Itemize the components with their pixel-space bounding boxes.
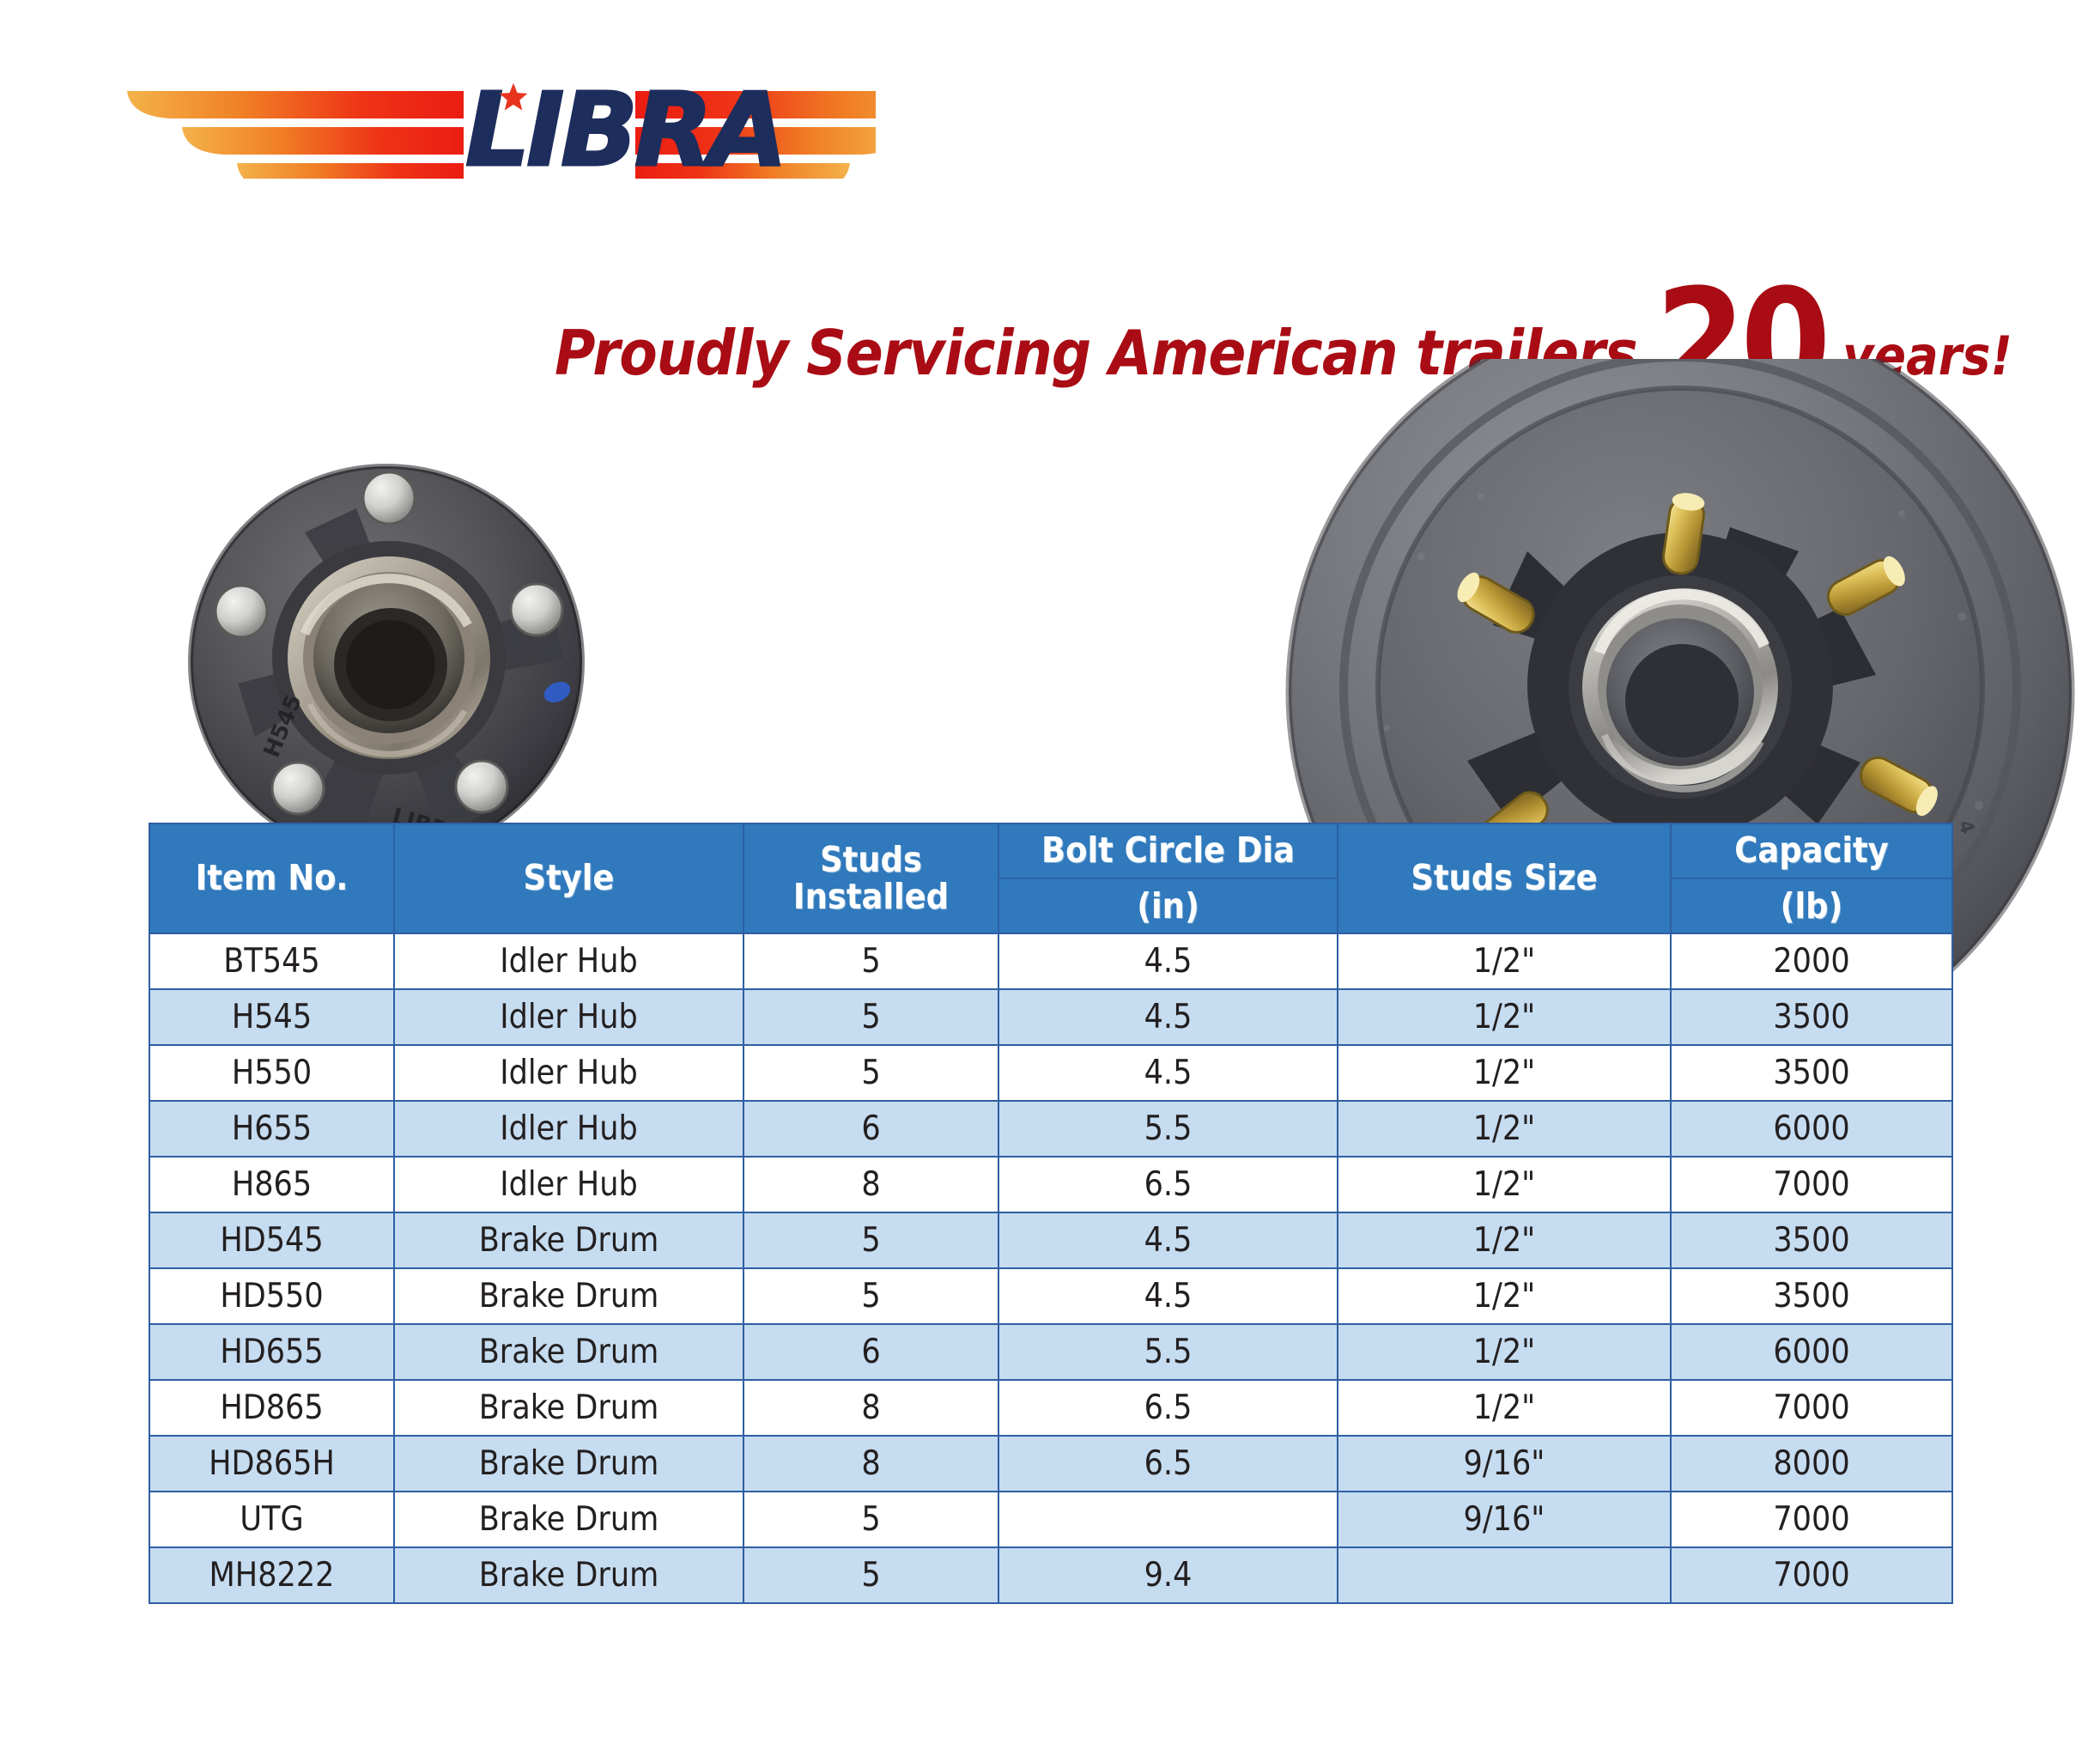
- table-cell-studs-installed: 8: [743, 1436, 998, 1492]
- table-cell-bolt-circle-dia: [998, 1492, 1338, 1547]
- table-row: UTGBrake Drum59/16"7000: [149, 1492, 1952, 1547]
- table-header: Item No. Style Studs Installed Bolt Circ…: [149, 823, 1952, 933]
- column-header-capacity-unit: (lb): [1672, 879, 1951, 932]
- table-cell-style: Brake Drum: [394, 1212, 743, 1268]
- table-cell-studs-size: 1/2": [1338, 1212, 1671, 1268]
- idler-hub-photo: H545 LIBRA: [176, 453, 597, 874]
- table-row: MH8222Brake Drum59.47000: [149, 1547, 1952, 1603]
- table-cell-studs-installed: 5: [743, 1045, 998, 1101]
- table-row: HD865Brake Drum86.51/2"7000: [149, 1380, 1952, 1436]
- table-cell-bolt-circle-dia: 6.5: [998, 1157, 1338, 1212]
- table-cell-studs-installed: 5: [743, 1492, 998, 1547]
- table-cell-item-no: UTG: [149, 1492, 394, 1547]
- table-cell-style: Idler Hub: [394, 933, 743, 989]
- table-cell-studs-size: 9/16": [1338, 1436, 1671, 1492]
- column-header-studs-installed-line1: Studs: [744, 842, 998, 878]
- hub-specification-table: Item No. Style Studs Installed Bolt Circ…: [149, 823, 1953, 1604]
- table-cell-studs-size: 1/2": [1338, 1324, 1671, 1380]
- table-cell-studs-installed: 8: [743, 1380, 998, 1436]
- table-body: BT545Idler Hub54.51/2"2000H545Idler Hub5…: [149, 933, 1952, 1603]
- table-cell-item-no: HD550: [149, 1268, 394, 1324]
- table-cell-item-no: MH8222: [149, 1547, 394, 1603]
- table-cell-style: Brake Drum: [394, 1547, 743, 1603]
- table-cell-studs-installed: 6: [743, 1324, 998, 1380]
- table-cell-bolt-circle-dia: 4.5: [998, 1045, 1338, 1101]
- table-cell-style: Brake Drum: [394, 1380, 743, 1436]
- column-header-bolt-circle-dia-label: Bolt Circle Dia: [999, 825, 1337, 879]
- table-cell-bolt-circle-dia: 4.5: [998, 933, 1338, 989]
- column-header-capacity: Capacity (lb): [1671, 823, 1952, 933]
- table-cell-capacity: 7000: [1671, 1547, 1952, 1603]
- column-header-bolt-circle-dia-unit: (in): [999, 879, 1337, 932]
- table-cell-capacity: 3500: [1671, 1045, 1952, 1101]
- table-cell-capacity: 7000: [1671, 1380, 1952, 1436]
- table-cell-style: Idler Hub: [394, 1157, 743, 1212]
- table-cell-bolt-circle-dia: 6.5: [998, 1436, 1338, 1492]
- table-cell-capacity: 6000: [1671, 1324, 1952, 1380]
- table-row: HD655Brake Drum65.51/2"6000: [149, 1324, 1952, 1380]
- table-row: BT545Idler Hub54.51/2"2000: [149, 933, 1952, 989]
- table-cell-style: Idler Hub: [394, 989, 743, 1045]
- table-cell-item-no: HD545: [149, 1212, 394, 1268]
- table-cell-studs-size: [1338, 1547, 1671, 1603]
- column-header-studs-installed-line2: Installed: [744, 878, 998, 915]
- tagline: Proudly Servicing American trailers 20 y…: [555, 240, 2014, 343]
- column-header-capacity-label: Capacity: [1672, 825, 1951, 879]
- table-cell-studs-size: 1/2": [1338, 1045, 1671, 1101]
- column-header-bolt-circle-dia: Bolt Circle Dia (in): [998, 823, 1338, 933]
- table-cell-studs-size: 1/2": [1338, 989, 1671, 1045]
- table-cell-bolt-circle-dia: 4.5: [998, 1268, 1338, 1324]
- table-row: HD865HBrake Drum86.59/16"8000: [149, 1436, 1952, 1492]
- table-cell-item-no: HD865: [149, 1380, 394, 1436]
- column-header-style-label: Style: [395, 860, 743, 896]
- table-cell-item-no: BT545: [149, 933, 394, 989]
- table-cell-capacity: 2000: [1671, 933, 1952, 989]
- table-cell-studs-size: 1/2": [1338, 1101, 1671, 1157]
- table-cell-item-no: H550: [149, 1045, 394, 1101]
- table-cell-capacity: 7000: [1671, 1492, 1952, 1547]
- table-cell-studs-size: 9/16": [1338, 1492, 1671, 1547]
- table-row: H545Idler Hub54.51/2"3500: [149, 989, 1952, 1045]
- table-cell-bolt-circle-dia: 4.5: [998, 989, 1338, 1045]
- column-header-studs-size-label: Studs Size: [1338, 860, 1670, 896]
- table-cell-item-no: H865: [149, 1157, 394, 1212]
- column-header-item-no-label: Item No.: [150, 860, 393, 896]
- table-cell-bolt-circle-dia: 4.5: [998, 1212, 1338, 1268]
- table-cell-style: Brake Drum: [394, 1268, 743, 1324]
- table-cell-capacity: 8000: [1671, 1436, 1952, 1492]
- table-cell-capacity: 3500: [1671, 1268, 1952, 1324]
- table-cell-capacity: 6000: [1671, 1101, 1952, 1157]
- table-cell-item-no: H655: [149, 1101, 394, 1157]
- table-cell-bolt-circle-dia: 5.5: [998, 1101, 1338, 1157]
- column-header-studs-installed: Studs Installed: [743, 823, 998, 933]
- table-row: H655Idler Hub65.51/2"6000: [149, 1101, 1952, 1157]
- table-cell-studs-installed: 8: [743, 1157, 998, 1212]
- table-cell-studs-installed: 5: [743, 989, 998, 1045]
- table-cell-style: Idler Hub: [394, 1101, 743, 1157]
- table-cell-capacity: 3500: [1671, 1212, 1952, 1268]
- table-cell-bolt-circle-dia: 5.5: [998, 1324, 1338, 1380]
- table-cell-style: Idler Hub: [394, 1045, 743, 1101]
- table-cell-item-no: HD655: [149, 1324, 394, 1380]
- column-header-style: Style: [394, 823, 743, 933]
- table-row: HD550Brake Drum54.51/2"3500: [149, 1268, 1952, 1324]
- table-cell-studs-installed: 5: [743, 1212, 998, 1268]
- table-cell-studs-size: 1/2": [1338, 1268, 1671, 1324]
- table-row: HD545Brake Drum54.51/2"3500: [149, 1212, 1952, 1268]
- table-cell-style: Brake Drum: [394, 1492, 743, 1547]
- table-cell-studs-installed: 5: [743, 1268, 998, 1324]
- table-row: H550Idler Hub54.51/2"3500: [149, 1045, 1952, 1101]
- table-cell-studs-installed: 5: [743, 1547, 998, 1603]
- column-header-item-no: Item No.: [149, 823, 394, 933]
- table-cell-capacity: 3500: [1671, 989, 1952, 1045]
- table-cell-item-no: H545: [149, 989, 394, 1045]
- table-cell-capacity: 7000: [1671, 1157, 1952, 1212]
- table-header-row: Item No. Style Studs Installed Bolt Circ…: [149, 823, 1952, 933]
- table-cell-style: Brake Drum: [394, 1436, 743, 1492]
- table-cell-bolt-circle-dia: 9.4: [998, 1547, 1338, 1603]
- libra-logo: LIBRA: [52, 41, 876, 179]
- table-cell-studs-size: 1/2": [1338, 1380, 1671, 1436]
- table-cell-item-no: HD865H: [149, 1436, 394, 1492]
- table-cell-bolt-circle-dia: 6.5: [998, 1380, 1338, 1436]
- star-icon: [499, 82, 528, 112]
- table-row: H865Idler Hub86.51/2"7000: [149, 1157, 1952, 1212]
- table-cell-style: Brake Drum: [394, 1324, 743, 1380]
- column-header-studs-size: Studs Size: [1338, 823, 1671, 933]
- table-cell-studs-installed: 6: [743, 1101, 998, 1157]
- table-cell-studs-size: 1/2": [1338, 933, 1671, 989]
- table-cell-studs-size: 1/2": [1338, 1157, 1671, 1212]
- table-cell-studs-installed: 5: [743, 933, 998, 989]
